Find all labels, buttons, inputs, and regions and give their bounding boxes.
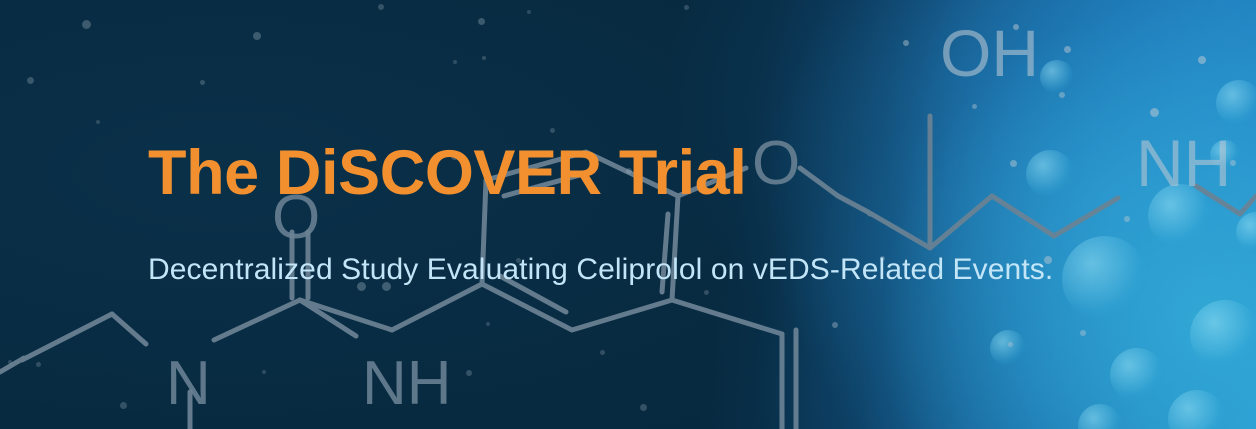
- particle-dot: [36, 362, 41, 367]
- hero-banner: O N NH O OH NH: [0, 0, 1256, 429]
- particle-dot: [120, 402, 127, 409]
- particle-dot: [82, 20, 91, 29]
- particle-dot: [27, 77, 34, 84]
- particle-dot: [1230, 160, 1236, 166]
- bokeh-blob: [1236, 212, 1256, 252]
- page-subtitle: Decentralized Study Evaluating Celiprolo…: [148, 207, 1208, 288]
- bokeh-blob: [1216, 80, 1256, 126]
- hero-copy: The DiSCOVER Trial Decentralized Study E…: [148, 0, 1208, 429]
- page-title: The DiSCOVER Trial: [148, 141, 1208, 207]
- particle-dot: [96, 120, 100, 124]
- bokeh-blob: [1210, 140, 1240, 170]
- particle-dot: [8, 360, 12, 364]
